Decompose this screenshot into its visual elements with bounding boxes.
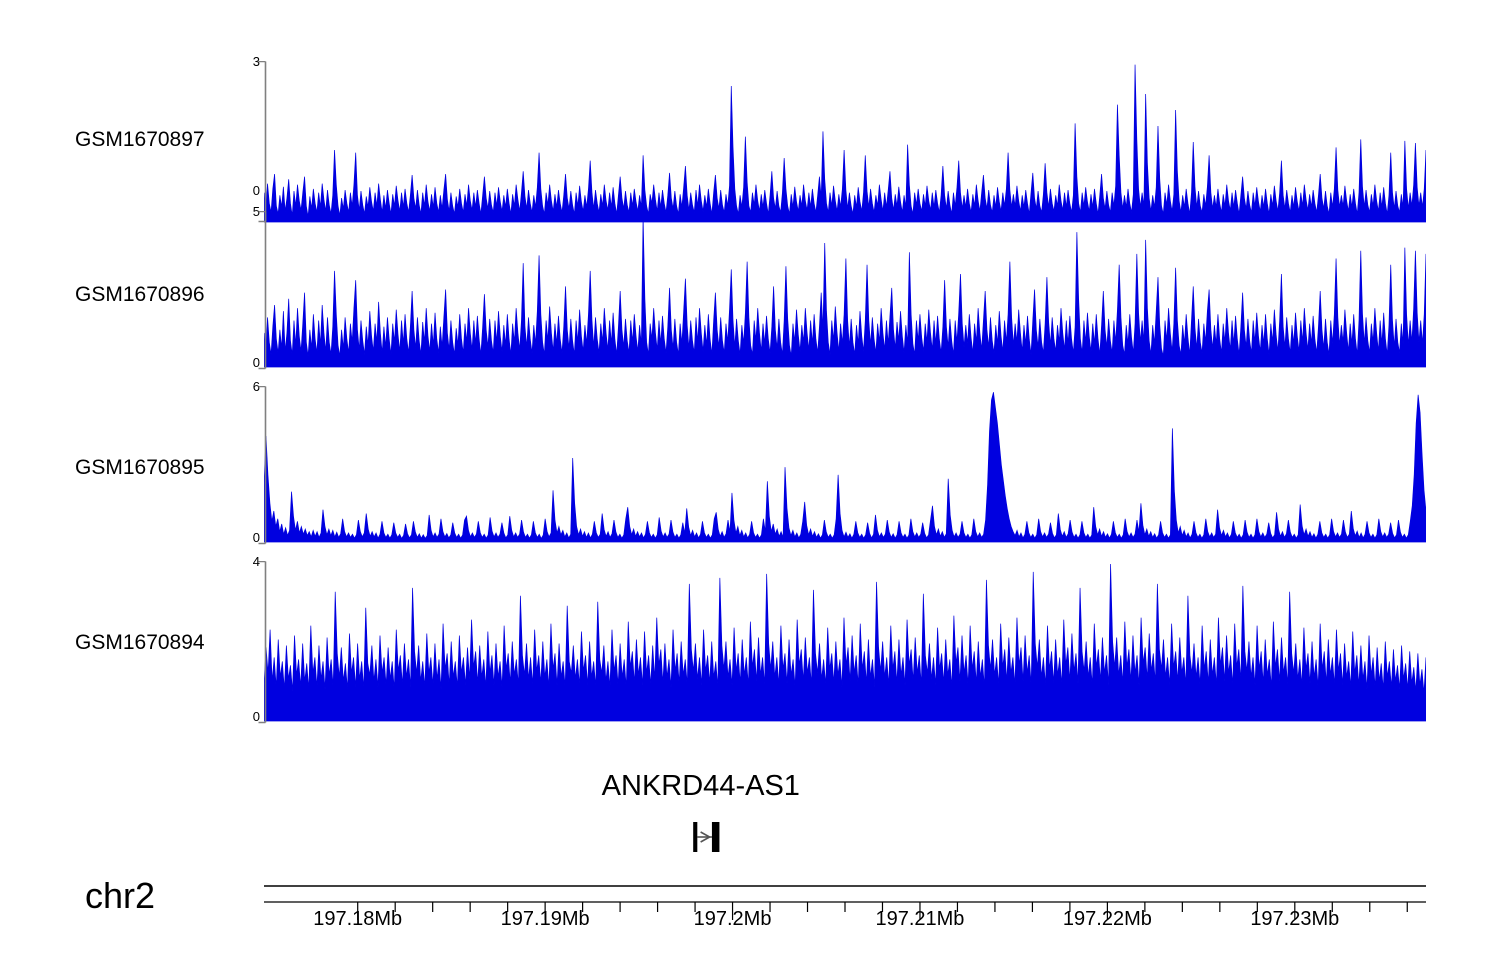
axis-max-label: 5 (230, 204, 260, 219)
track-GSM1670895[interactable]: GSM1670895 6 0 (0, 378, 1500, 543)
signal-path (264, 392, 1426, 542)
track-GSM1670897[interactable]: GSM1670897 3 0 (0, 28, 1500, 193)
ruler-tick-label: 197.22Mb (1063, 908, 1152, 931)
track-label: GSM1670895 (75, 456, 205, 480)
signal-area (264, 211, 1426, 371)
track-plot[interactable] (264, 561, 1426, 725)
exon-block-1[interactable] (712, 822, 719, 852)
track-plot[interactable] (264, 61, 1426, 226)
gene-label: ANKRD44-AS1 (602, 770, 800, 803)
track-plot[interactable] (264, 386, 1426, 546)
ruler-tick-label: 197.2Mb (694, 908, 772, 931)
track-label: GSM1670896 (75, 283, 205, 307)
axis-max-label: 4 (230, 554, 260, 569)
axis-max-label: 3 (230, 54, 260, 69)
track-label: GSM1670894 (75, 631, 205, 655)
track-plot[interactable] (264, 211, 1426, 371)
signal-area (264, 386, 1426, 546)
y-axis-bracket (258, 386, 270, 546)
signal-path (264, 217, 1426, 367)
axis-min-label: 0 (230, 183, 260, 198)
axis-min-label: 0 (230, 530, 260, 545)
gene-model[interactable] (0, 815, 1500, 875)
signal-area (264, 561, 1426, 725)
track-label: GSM1670897 (75, 128, 205, 152)
ruler-tick-label: 197.18Mb (313, 908, 402, 931)
track-GSM1670896[interactable]: GSM1670896 5 0 (0, 203, 1500, 368)
ruler-tick-label: 197.23Mb (1250, 908, 1339, 931)
axis-min-label: 0 (230, 709, 260, 724)
y-axis-bracket (258, 61, 270, 226)
ruler-label-group: 197.18Mb197.19Mb197.2Mb197.21Mb197.22Mb1… (0, 908, 1500, 938)
axis-min-label: 0 (230, 355, 260, 370)
signal-area (264, 61, 1426, 226)
gene-track[interactable]: ANKRD44-AS1 (0, 765, 1500, 860)
track-GSM1670894[interactable]: GSM1670894 4 0 (0, 553, 1500, 723)
axis-max-label: 6 (230, 379, 260, 394)
y-axis-bracket (258, 211, 270, 371)
signal-path (264, 65, 1426, 222)
y-axis-bracket (258, 561, 270, 725)
signal-path (264, 564, 1426, 721)
genome-browser: GSM1670897 3 0 GSM1670896 5 0 GSM1670895… (0, 0, 1500, 980)
coordinate-ruler[interactable]: chr2 197.18Mb197.19Mb197.2Mb197.21Mb197.… (0, 868, 1500, 948)
ruler-tick-label: 197.19Mb (501, 908, 590, 931)
ruler-tick-label: 197.21Mb (875, 908, 964, 931)
exon-block-0[interactable] (693, 822, 697, 852)
